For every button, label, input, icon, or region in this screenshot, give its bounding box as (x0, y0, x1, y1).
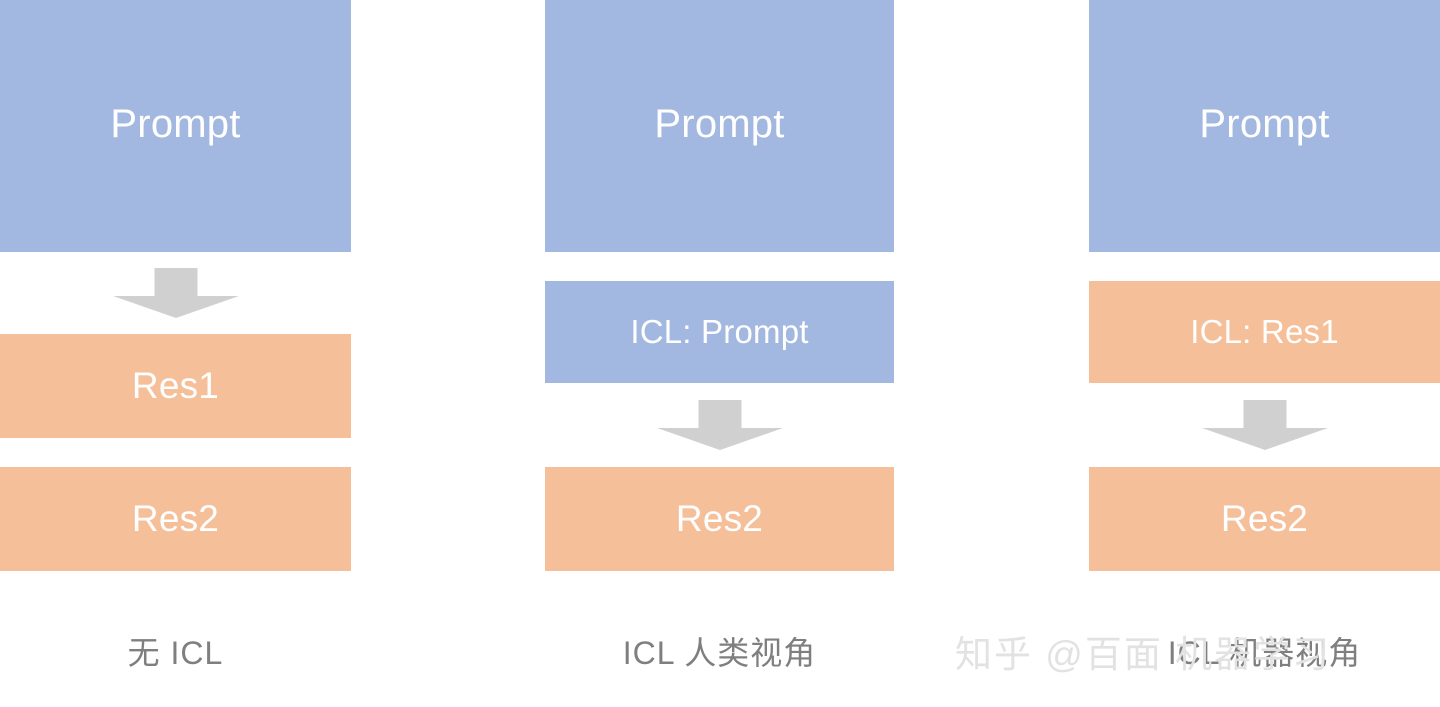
res2-label-col1: Res2 (132, 498, 219, 540)
caption-col1: 无 ICL (0, 628, 351, 674)
res2-label-col3: Res2 (1221, 498, 1308, 540)
prompt-label-col1: Prompt (110, 102, 240, 147)
res2-label-col2: Res2 (676, 498, 763, 540)
res1-box-col1: Res1 (0, 334, 351, 438)
down-arrow-icon-col1 (113, 268, 239, 318)
res2-box-col2: Res2 (545, 467, 894, 571)
prompt-label-col2: Prompt (654, 102, 784, 147)
column-icl-human-view: Prompt ICL: Prompt Res2 ICL 人类视角 (545, 0, 894, 707)
prompt-box-col1: Prompt (0, 0, 351, 252)
caption-col3: ICL 机器视角 (1089, 628, 1440, 674)
res1-label-col1: Res1 (132, 365, 219, 407)
icl-prompt-label-col2: ICL: Prompt (630, 313, 808, 351)
down-arrow-icon-col2 (657, 400, 783, 450)
res2-box-col1: Res2 (0, 467, 351, 571)
prompt-box-col2: Prompt (545, 0, 894, 252)
diagram-canvas: Prompt Res1 Res2 无 ICL Prompt ICL: Promp… (0, 0, 1440, 707)
res2-box-col3: Res2 (1089, 467, 1440, 571)
prompt-label-col3: Prompt (1199, 102, 1329, 147)
caption-col2: ICL 人类视角 (545, 628, 894, 674)
prompt-box-col3: Prompt (1089, 0, 1440, 252)
down-arrow-icon-col3 (1202, 400, 1328, 450)
column-icl-machine-view: Prompt ICL: Res1 Res2 ICL 机器视角 (1089, 0, 1440, 707)
icl-res1-box-col3: ICL: Res1 (1089, 281, 1440, 383)
icl-prompt-box-col2: ICL: Prompt (545, 281, 894, 383)
icl-res1-label-col3: ICL: Res1 (1190, 313, 1339, 351)
column-no-icl: Prompt Res1 Res2 无 ICL (0, 0, 351, 707)
